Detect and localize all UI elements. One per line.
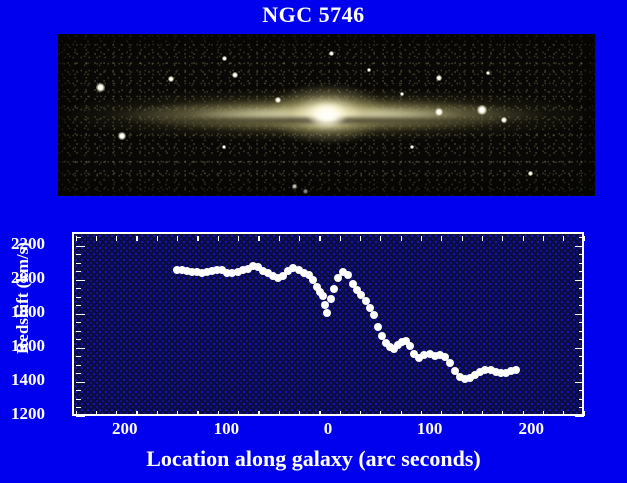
axis-tick: [177, 236, 178, 241]
axis-tick: [380, 411, 381, 416]
axis-tick: [197, 236, 198, 241]
axis-tick: [579, 407, 584, 408]
x-tick-label: 100: [196, 419, 256, 439]
x-tick-label: 100: [400, 419, 460, 439]
axis-tick: [76, 305, 81, 306]
axis-tick: [177, 411, 178, 416]
axis-tick: [543, 411, 544, 416]
axis-tick: [360, 411, 361, 416]
data-point: [374, 323, 382, 331]
axis-tick: [319, 411, 320, 416]
axis-tick: [462, 411, 463, 416]
axis-tick: [76, 339, 81, 340]
axis-tick: [575, 382, 584, 383]
axis-tick: [279, 411, 280, 416]
axis-tick: [76, 246, 85, 247]
axis-tick: [462, 236, 463, 241]
axis-tick: [575, 246, 584, 247]
axis-tick: [76, 271, 81, 272]
axis-tick: [76, 288, 81, 289]
x-tick-label: 200: [95, 419, 155, 439]
data-point: [323, 309, 331, 317]
axis-tick: [96, 236, 97, 241]
axis-tick: [579, 288, 584, 289]
axis-tick: [96, 411, 97, 416]
axis-tick: [76, 382, 85, 383]
data-point: [330, 285, 338, 293]
axis-tick: [441, 236, 442, 241]
axis-tick: [579, 399, 584, 400]
axis-tick: [360, 236, 361, 241]
axis-tick: [136, 236, 137, 241]
axis-tick: [76, 416, 85, 417]
axis-tick: [76, 263, 81, 264]
axis-tick: [258, 236, 259, 241]
axis-tick: [575, 348, 584, 349]
axis-tick: [575, 314, 584, 315]
x-axis-title: Location along galaxy (arc seconds): [0, 446, 627, 472]
axis-tick: [563, 236, 564, 241]
axis-tick: [340, 236, 341, 241]
axis-tick: [543, 236, 544, 241]
axis-tick: [579, 331, 584, 332]
axis-tick: [421, 236, 422, 241]
axis-tick: [258, 411, 259, 416]
data-point: [327, 295, 335, 303]
x-tick-label: 0: [298, 419, 358, 439]
axis-tick: [76, 399, 81, 400]
axis-tick: [579, 390, 584, 391]
axis-tick: [136, 411, 137, 416]
axis-tick: [76, 373, 81, 374]
axis-tick: [502, 236, 503, 241]
axis-tick: [76, 280, 85, 281]
data-point: [370, 311, 378, 319]
axis-tick: [76, 297, 81, 298]
axis-tick: [482, 411, 483, 416]
axis-tick: [579, 297, 584, 298]
axis-tick: [76, 237, 81, 238]
axis-tick: [523, 236, 524, 241]
axis-tick: [563, 411, 564, 416]
axis-tick: [157, 236, 158, 241]
axis-tick: [76, 348, 85, 349]
rotation-curve-chart: 120014001600180020002200 2001000100200 R…: [0, 0, 627, 483]
axis-tick: [523, 411, 524, 416]
axis-tick: [238, 236, 239, 241]
axis-tick: [579, 271, 584, 272]
axis-tick: [279, 236, 280, 241]
axis-tick: [299, 236, 300, 241]
axis-tick: [76, 314, 85, 315]
data-point: [446, 359, 454, 367]
axis-tick: [575, 280, 584, 281]
axis-tick: [401, 411, 402, 416]
axis-tick: [76, 365, 81, 366]
data-point: [321, 301, 329, 309]
axis-tick: [116, 411, 117, 416]
axis-tick: [579, 339, 584, 340]
axis-tick: [319, 236, 320, 241]
axis-tick: [218, 411, 219, 416]
axis-tick: [482, 236, 483, 241]
plot-area: [72, 232, 584, 416]
axis-tick: [76, 356, 81, 357]
axis-tick: [441, 411, 442, 416]
axis-tick: [579, 373, 584, 374]
axis-tick: [76, 254, 81, 255]
axis-tick: [299, 411, 300, 416]
axis-tick: [238, 411, 239, 416]
y-tick-label: 1200: [11, 404, 45, 424]
axis-tick: [76, 407, 81, 408]
axis-tick: [116, 236, 117, 241]
axis-tick: [76, 390, 81, 391]
axis-tick: [218, 236, 219, 241]
axis-tick: [76, 331, 81, 332]
axis-tick: [421, 411, 422, 416]
figure-page: NGC 5746 120014001600180020002200 200100…: [0, 0, 627, 483]
axis-tick: [157, 411, 158, 416]
x-tick-label: 200: [501, 419, 561, 439]
data-point: [512, 366, 520, 374]
data-point: [319, 292, 327, 300]
axis-tick: [579, 356, 584, 357]
axis-tick: [579, 237, 584, 238]
axis-tick: [197, 411, 198, 416]
data-point: [344, 271, 352, 279]
axis-tick: [579, 322, 584, 323]
axis-tick: [579, 263, 584, 264]
axis-tick: [575, 416, 584, 417]
axis-tick: [380, 236, 381, 241]
axis-tick: [579, 254, 584, 255]
axis-tick: [579, 305, 584, 306]
axis-tick: [401, 236, 402, 241]
axis-tick: [76, 322, 81, 323]
axis-tick: [579, 365, 584, 366]
axis-tick: [340, 411, 341, 416]
axis-tick: [502, 411, 503, 416]
y-axis-title: Redshift (km/s): [13, 213, 33, 383]
